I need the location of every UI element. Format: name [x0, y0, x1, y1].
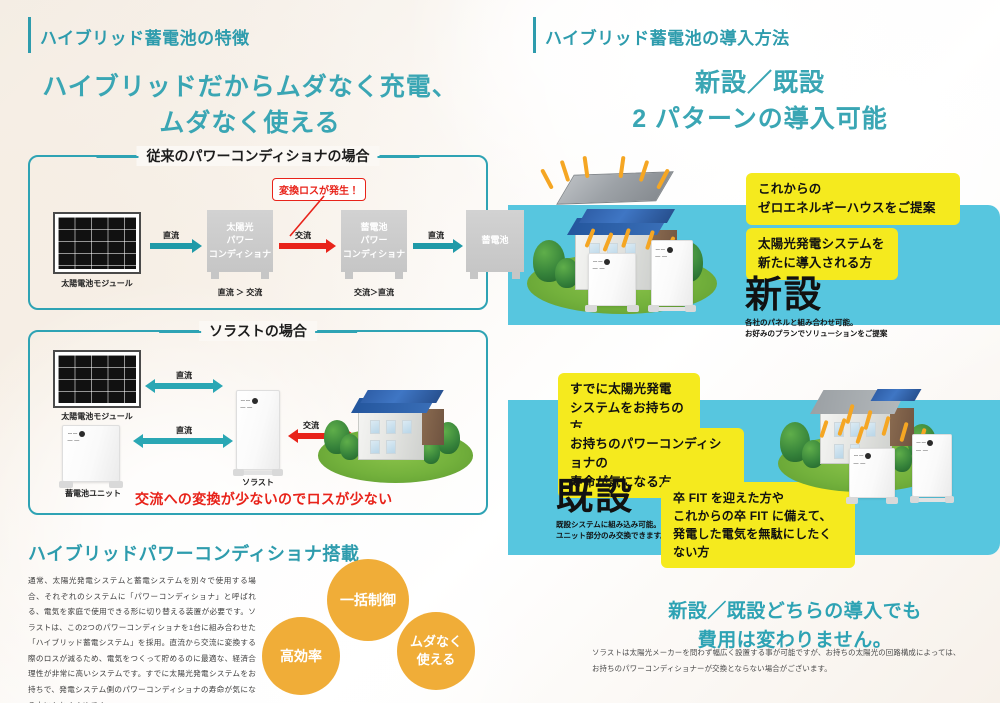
sorast-unit-label: ソラスト	[222, 478, 294, 488]
box-leg-left	[211, 272, 219, 279]
device-logo: ーー— —	[593, 259, 610, 273]
window	[370, 420, 380, 434]
house-illustration-left	[318, 378, 473, 483]
box-leg-right	[395, 272, 403, 279]
left-title-line2: ムダなく使える	[159, 109, 340, 137]
existing-battery-unit-1: ーー— —	[849, 448, 895, 498]
solar-module-label-1: 太陽電池モジュール	[40, 279, 154, 289]
arrow-head	[453, 239, 463, 253]
right-section-eyebrow: ハイブリッド蓄電池の導入方法	[533, 30, 790, 47]
flow-label-dc-bottom: 直流	[176, 425, 192, 436]
left-section-eyebrow: ハイブリッド蓄電池の特徴	[28, 30, 250, 47]
window	[386, 440, 396, 454]
arrow-shaft	[279, 243, 327, 249]
house-roof-slope	[871, 389, 922, 401]
logo-dot	[667, 247, 673, 253]
device-shell: ーー— —	[62, 425, 120, 482]
box-leg-left	[345, 272, 353, 279]
arrow-head	[192, 239, 202, 253]
logo-dot	[865, 453, 871, 459]
conventional-card-title: 従来のパワーコンディショナの場合	[136, 146, 379, 166]
sun-ray	[560, 160, 571, 182]
solar-power-conditioner-box: 太陽光 パワー コンディショナ	[207, 210, 273, 272]
closing-line1: 新設／既設どちらの導入でも	[668, 601, 922, 622]
existing-callout-post-fit: 卒 FIT を迎えた方や これからの卒 FIT に備えて、 発電した電気を無駄に…	[661, 482, 855, 568]
device-base	[910, 496, 955, 503]
bubble-label: 一括制御	[340, 591, 396, 610]
bubble-label: 高効率	[280, 647, 322, 666]
window	[386, 420, 396, 434]
device-base	[233, 469, 282, 476]
sorast-card-title: ソラストの場合	[199, 321, 317, 341]
conversion-label-dc-to-ac: 直流 ＞ 交流	[195, 288, 285, 298]
new-big-word-text: 新設	[745, 274, 823, 315]
closing-disclaimer: ソラストは太陽光メーカーを問わず幅広く設置する事が可能ですが、お持ちの太陽光の回…	[592, 645, 992, 676]
device-shell: ーー— —	[849, 448, 895, 498]
base-foot-left	[846, 497, 857, 504]
base-foot-left	[648, 305, 658, 312]
existing-install-big-word: 既設 既設システムに組み込み可能。 ユニット部分のみ交換できます。	[556, 478, 668, 542]
bubble-label: ムダなく 使える	[410, 633, 462, 668]
box-leg-left	[470, 272, 478, 279]
tree	[892, 446, 912, 472]
device-shell: ーー— —	[236, 390, 280, 470]
loss-leader-line	[272, 192, 336, 240]
arrow-dc-bidirectional-top	[145, 383, 223, 389]
arrow-dc-2	[413, 243, 463, 249]
left-title-line1: ハイブリッドだからムダなく充電、	[42, 73, 458, 101]
device-base	[585, 305, 639, 312]
solar-module-graphic-1	[53, 212, 141, 274]
box-leg-right	[512, 272, 520, 279]
arrow-head-right	[213, 379, 223, 393]
device-logo: ーー— —	[67, 431, 84, 445]
logo-dot	[79, 431, 85, 437]
base-foot-left	[910, 496, 920, 503]
arrow-shaft	[154, 383, 214, 389]
solar-module-graphic-2	[53, 350, 141, 408]
base-foot-left	[59, 481, 73, 488]
base-foot-left	[233, 469, 244, 476]
base-foot-right	[945, 496, 955, 503]
arrow-shaft	[413, 243, 454, 249]
right-section-title: 新設／既設 2 パターンの導入可能	[540, 66, 980, 137]
flow-label-ac-2: 交流	[303, 420, 319, 431]
new-callout-new-solar: 太陽光発電システムを 新たに導入される方	[746, 228, 898, 280]
hybrid-conditioner-heading: ハイブリッドパワーコンディショナ搭載	[28, 545, 359, 563]
existing-battery-unit-2: ーー— —	[912, 434, 952, 497]
flow-label-dc-top: 直流	[176, 370, 192, 381]
new-install-sub-text: 各社のパネルと組み合わせ可能。 お好みのプランでソリューションをご提案	[745, 318, 887, 340]
window	[834, 444, 844, 459]
solar-power-conditioner-label: 太陽光 パワー コンディショナ	[207, 210, 273, 272]
logo-dot	[604, 259, 610, 265]
solar-cells-grid	[58, 355, 136, 403]
device-shell: ーー— —	[588, 253, 636, 306]
arrow-head-right	[223, 434, 233, 448]
logo-dot	[927, 440, 933, 446]
base-foot-right	[886, 497, 897, 504]
feature-paragraph: 通常、太陽光発電システムと蓄電システムを別々で使用する場合、それぞれのシステムに…	[28, 573, 256, 703]
arrow-dc-1	[150, 243, 202, 249]
new-install-big-word: 新設 各社のパネルと組み合わせ可能。 お好みのプランでソリューションをご提案	[745, 276, 887, 340]
feature-bubble-efficiency: 高効率	[262, 617, 340, 695]
flow-label-dc-2: 直流	[428, 230, 444, 241]
arrow-head	[326, 239, 336, 253]
base-foot-right	[627, 305, 639, 312]
new-battery-unit-2: ーー— —	[651, 240, 693, 306]
disclaimer-line2: お持ちのパワーコンディショナーが交換とならない場合がございます。	[592, 661, 992, 677]
flow-label-dc-1: 直流	[163, 230, 179, 241]
solar-cells-grid	[58, 217, 136, 269]
box-leg-right	[261, 272, 269, 279]
existing-big-word-text: 既設	[556, 476, 634, 517]
device-shell: ーー— —	[912, 434, 952, 497]
device-logo: ーー— —	[655, 247, 672, 261]
low-loss-caption: 交流への変換が少ないのでロスが少ない	[135, 489, 392, 509]
arrow-ac-loss	[279, 243, 336, 249]
window	[402, 420, 412, 434]
sun-ray	[540, 168, 554, 189]
base-foot-left	[585, 305, 597, 312]
new-battery-unit-1: ーー— —	[588, 253, 636, 306]
house-roof-slope	[360, 390, 444, 403]
battery-unit-label: 蓄電池ユニット	[48, 489, 138, 499]
tree	[340, 434, 360, 460]
sorast-unit-device: ーー— —	[236, 390, 280, 470]
base-foot-right	[685, 305, 695, 312]
house-wing	[422, 409, 444, 445]
device-logo: ーー— —	[240, 398, 257, 412]
window	[370, 440, 380, 454]
battery-power-conditioner-box: 蓄電池 パワー コンディショナ	[341, 210, 407, 272]
device-base	[846, 497, 898, 504]
battery-power-conditioner-label: 蓄電池 パワー コンディショナ	[341, 210, 407, 272]
battery-unit-device: ーー— —	[62, 425, 120, 482]
device-logo: ーー— —	[854, 453, 871, 467]
device-base	[648, 305, 695, 312]
arrow-dc-bidirectional-bottom	[133, 438, 233, 444]
right-title-line1: 新設／既設	[695, 69, 825, 97]
base-foot-right	[272, 469, 283, 476]
device-logo: ーー— —	[916, 440, 933, 454]
device-base	[59, 481, 124, 488]
feature-bubble-no-waste: ムダなく 使える	[397, 612, 475, 690]
arrow-shaft	[142, 438, 224, 444]
conversion-label-ac-to-dc: 交流＞直流	[329, 288, 419, 298]
base-foot-right	[109, 481, 123, 488]
right-title-line2: 2 パターンの導入可能	[632, 105, 888, 133]
existing-install-sub-text: 既設システムに組み込み可能。 ユニット部分のみ交換できます。	[556, 520, 668, 542]
left-section-title: ハイブリッドだからムダなく充電、 ムダなく使える	[20, 70, 480, 141]
brochure-page: ハイブリッド蓄電池の特徴 ハイブリッドだからムダなく充電、 ムダなく使える 従来…	[0, 0, 1000, 703]
device-shell: ーー— —	[651, 240, 693, 306]
logo-dot	[252, 398, 258, 404]
battery-storage-label: 蓄電池	[466, 210, 524, 272]
arrow-shaft	[150, 243, 193, 249]
house-roof-slope	[579, 209, 675, 223]
solar-module-label-2: 太陽電池モジュール	[40, 412, 154, 422]
feature-bubble-control: 一括制御	[327, 559, 409, 641]
battery-storage-box: 蓄電池	[466, 210, 524, 272]
disclaimer-line1: ソラストは太陽光メーカーを問わず幅広く設置する事が可能ですが、お持ちの太陽光の回…	[592, 645, 992, 661]
new-callout-zero-energy: これからの ゼロエネルギーハウスをご提案	[746, 173, 960, 225]
